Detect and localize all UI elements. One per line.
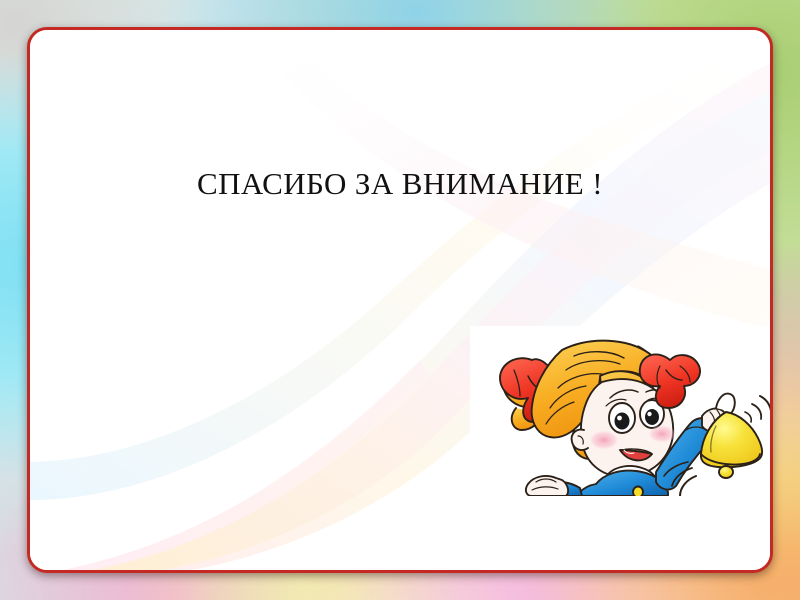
page-title: СПАСИБО ЗА ВНИМАНИЕ ! [30,166,770,202]
slide-root: СПАСИБО ЗА ВНИМАНИЕ ! [0,0,800,600]
schoolgirl-bell-illustration [470,326,771,496]
content-card: СПАСИБО ЗА ВНИМАНИЕ ! [27,27,773,573]
clipart-schoolgirl-with-bell [470,326,771,496]
